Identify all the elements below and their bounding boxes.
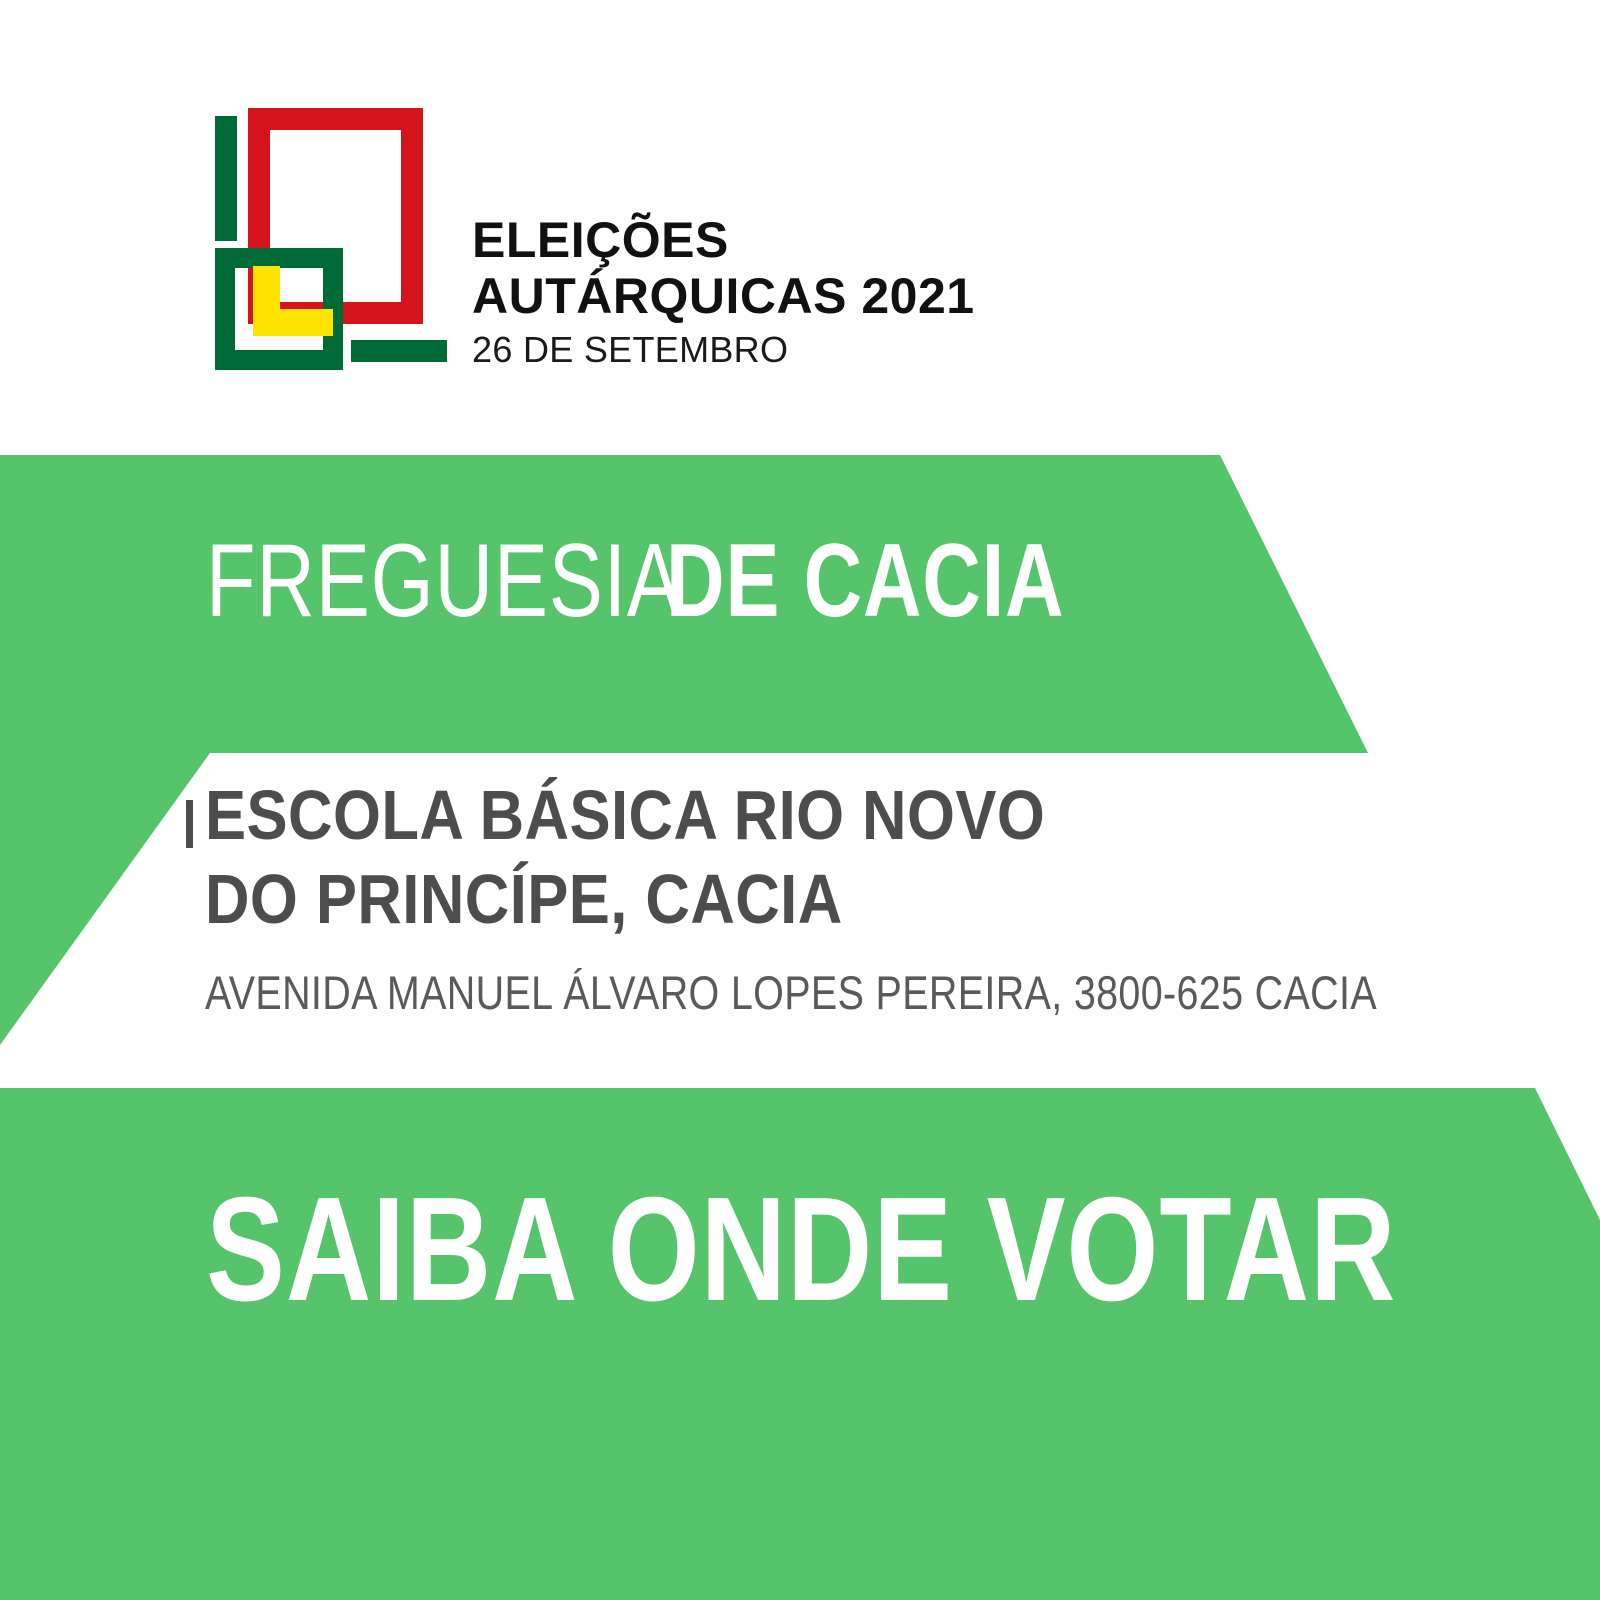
logo-date-line: 26 DE SETEMBRO [472, 328, 1232, 372]
venue-name: ESCOLA BÁSICA RIO NOVO DO PRINCÍPE, CACI… [205, 773, 1535, 941]
venue-marker-bar-icon [186, 800, 193, 848]
venue-address: AVENIDA MANUEL ÁLVARO LOPES PEREIRA, 380… [205, 965, 1377, 1021]
logo-yellow-lshape-horizontal [253, 309, 333, 336]
logo-header: ELEIÇÕES AUTÁRQUICAS 2021 26 DE SETEMBRO [0, 0, 1600, 430]
logo-green-vertical-bar [215, 116, 237, 241]
logo-green-horizontal-bar [351, 340, 447, 362]
logo-title-line-2: AUTÁRQUICAS 2021 [472, 268, 1232, 324]
venue-name-line-1: ESCOLA BÁSICA RIO NOVO [205, 773, 1375, 857]
venue-band: ESCOLA BÁSICA RIO NOVO DO PRINCÍPE, CACI… [0, 753, 1600, 1089]
parish-heading: FREGUESIADE CACIA [206, 529, 1177, 633]
call-to-action-text: SAIBA ONDE VOTAR [206, 1176, 1396, 1324]
logo-title-line-1: ELEIÇÕES [472, 212, 1232, 268]
call-to-action-banner: SAIBA ONDE VOTAR [0, 1088, 1600, 1600]
parish-label: FREGUESIA [206, 529, 682, 633]
eleicoes-autarquicas-logo-icon [215, 108, 455, 370]
election-poster: ELEIÇÕES AUTÁRQUICAS 2021 26 DE SETEMBRO… [0, 0, 1600, 1600]
parish-banner: FREGUESIADE CACIA [0, 455, 1380, 755]
parish-name: DE CACIA [666, 529, 1064, 633]
venue-name-line-2: DO PRINCÍPE, CACIA [205, 857, 1375, 941]
logo-wordmark: ELEIÇÕES AUTÁRQUICAS 2021 26 DE SETEMBRO [472, 212, 1232, 372]
